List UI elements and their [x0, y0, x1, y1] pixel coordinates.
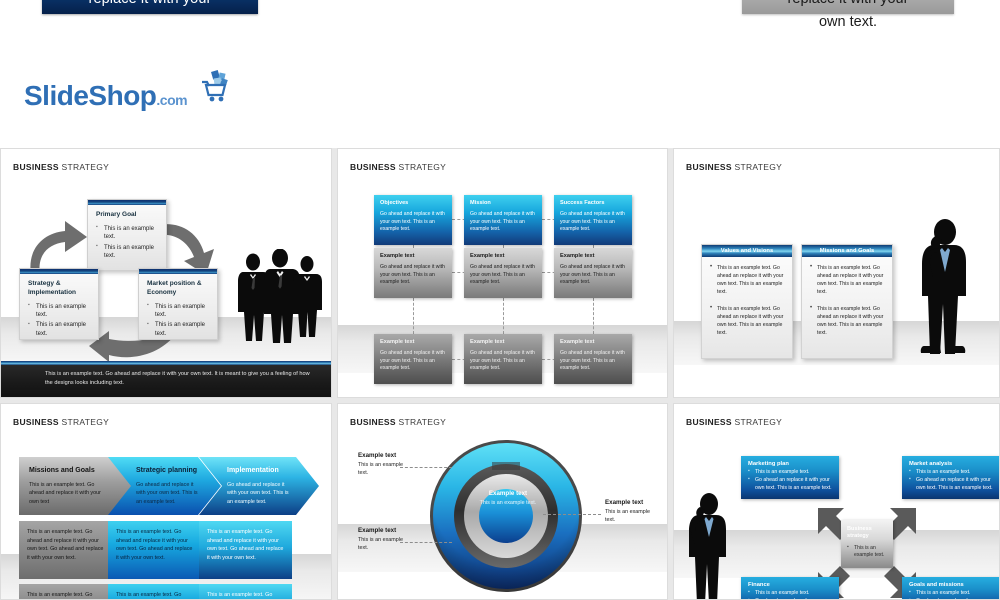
matrix-box-body: Go ahead and replace it with your own te…	[554, 345, 632, 373]
chevron-title: Missions and Goals	[29, 467, 95, 474]
matrix-box-body: Go ahead and replace it with your own te…	[374, 259, 452, 287]
content-box[interactable]: This is an example text. Go ahead and re…	[19, 584, 112, 600]
quadrant-box-title: Market analysis	[909, 461, 993, 467]
connector-line	[503, 298, 504, 334]
slide-thumbnail-4[interactable]: BUSINESS STRATEGY Missions and Goals Thi…	[0, 403, 332, 600]
title-light: STRATEGY	[396, 162, 446, 172]
page-title: BUSINESS STRATEGY	[350, 162, 446, 172]
list-item: This is an example text.	[847, 545, 887, 559]
content-box[interactable]: This is an example text. Go ahead and re…	[199, 521, 292, 579]
card-title: Primary Goal	[88, 205, 166, 222]
card-strategy-implementation[interactable]: Strategy & Implementation This is an exa…	[19, 268, 99, 340]
callout-body: This is an example text.	[358, 536, 410, 553]
list-item: This is an example text.	[147, 303, 209, 320]
content-box[interactable]: This is an example text. Go ahead and re…	[108, 521, 201, 579]
list-item: This is an example text.	[96, 244, 158, 261]
chevron-body: This is an example text. Go ahead and re…	[29, 481, 109, 506]
callout-header: Example text	[605, 499, 661, 506]
slide-thumbnail-2[interactable]: BUSINESS STRATEGY Objectives Go ahead an…	[337, 148, 668, 398]
shopping-cart-icon	[200, 70, 232, 104]
quadrant-box-title: Goals and missions	[909, 582, 993, 588]
chevron-implementation[interactable]: Implementation Go ahead and replace it w…	[199, 457, 319, 515]
concentric-target-diagram[interactable]	[428, 438, 584, 594]
center-node-bullets: This is an example text.	[841, 540, 893, 559]
card-title: Strategy & Implementation	[20, 274, 98, 300]
callout-top-left[interactable]: Example text This is an example text.	[358, 452, 410, 478]
list-item: Go ahead an replace it with your own tex…	[909, 477, 993, 493]
list-item: Go ahead an replace it with your own tex…	[748, 477, 832, 493]
logo-wordmark: SlideShop.com	[24, 78, 224, 118]
list-item: This is an example text.	[28, 321, 90, 338]
logo-dotcom-text: .com	[156, 92, 187, 108]
matrix-box[interactable]: Example text Go ahead and replace it wit…	[374, 334, 452, 384]
matrix-box-title: Success Factors	[554, 195, 632, 206]
chevron-body: Go ahead and replace it with your own te…	[136, 481, 204, 506]
matrix-box[interactable]: Example text Go ahead and replace it wit…	[554, 334, 632, 384]
center-callout-header: Example text	[478, 490, 538, 497]
chevron-title: Implementation	[227, 467, 279, 474]
quadrant-box-goals-and-missions[interactable]: Goals and missions This is an example te…	[902, 577, 1000, 600]
list-item: This is an example text. Go ahead an rep…	[709, 305, 785, 337]
chevron-title: Strategic planning	[136, 467, 197, 474]
title-bold: BUSINESS	[686, 417, 732, 427]
list-item: This is an example text.	[147, 321, 209, 338]
matrix-box-body: Go ahead and replace it with your own te…	[374, 206, 452, 234]
matrix-box-body: Go ahead and replace it with your own te…	[464, 259, 542, 287]
quadrant-box-title: Finance	[748, 582, 832, 588]
quadrant-box-bullets: This is an example text. Go ahead an rep…	[909, 590, 993, 600]
center-node-title: Business strategy	[841, 520, 893, 540]
connector-line	[413, 298, 414, 334]
callout-header: Example text	[358, 452, 410, 459]
quadrant-box-market-analysis[interactable]: Market analysis This is an example text.…	[902, 456, 1000, 499]
top-banner-area: replace it with your replace it with you…	[0, 0, 1000, 148]
list-item: This is an example text.	[748, 469, 832, 477]
logo-shop-text: Shop	[88, 80, 156, 111]
title-bold: BUSINESS	[350, 417, 396, 427]
card-market-position-economy[interactable]: Market position & Economy This is an exa…	[138, 268, 218, 340]
matrix-box[interactable]: Mission Go ahead and replace it with you…	[464, 195, 542, 245]
connector-line	[593, 298, 594, 334]
matrix-box[interactable]: Example text Go ahead and replace it wit…	[374, 248, 452, 298]
matrix-box-title: Example text	[554, 248, 632, 259]
callout-header: Example text	[358, 527, 410, 534]
logo-slide-text: Slide	[24, 80, 88, 111]
quadrant-box-bullets: This is an example text. Go ahead an rep…	[909, 469, 993, 492]
list-item: This is an example text.	[909, 590, 993, 598]
page-title: BUSINESS STRATEGY	[686, 417, 782, 427]
callout-right[interactable]: Example text This is an example text.	[605, 499, 661, 525]
matrix-box[interactable]: Objectives Go ahead and replace it with …	[374, 195, 452, 245]
content-box[interactable]: This is an example text. Go ahead and re…	[108, 584, 201, 600]
title-light: STRATEGY	[732, 417, 782, 427]
quadrant-box-finance[interactable]: Finance This is an example text. Go ahea…	[741, 577, 839, 600]
quadrant-box-title: Marketing plan	[748, 461, 832, 467]
list-item: This is an example text. Go ahead an rep…	[809, 305, 885, 337]
title-bold: BUSINESS	[686, 162, 732, 172]
panel-bullet-list: This is an example text. Go ahead an rep…	[802, 257, 892, 338]
businessman-on-phone-silhouette	[682, 492, 732, 600]
matrix-box-title: Mission	[464, 195, 542, 206]
page-title: BUSINESS STRATEGY	[350, 417, 446, 427]
page-title: BUSINESS STRATEGY	[13, 162, 109, 172]
card-primary-goal[interactable]: Primary Goal This is an example text. Th…	[87, 199, 167, 271]
quadrant-box-marketing-plan[interactable]: Marketing plan This is an example text. …	[741, 456, 839, 499]
list-item: This is an example text.	[28, 303, 90, 320]
matrix-box-body: Go ahead and replace it with your own te…	[464, 345, 542, 373]
list-item: This is an example text. Go ahead an rep…	[809, 264, 885, 296]
matrix-box-title: Example text	[464, 248, 542, 259]
slide-thumbnail-5[interactable]: BUSINESS STRATEGY	[337, 403, 668, 600]
matrix-box-body: Go ahead and replace it with your own te…	[554, 206, 632, 234]
title-light: STRATEGY	[59, 417, 109, 427]
title-light: STRATEGY	[59, 162, 109, 172]
slide-footer-bar: This is an example text. Go ahead and re…	[1, 361, 331, 397]
card-bullet-list: This is an example text. This is an exam…	[20, 300, 98, 347]
slide-thumbnail-grid: BUSINESS STRATEGY Primary Goal This is a…	[0, 148, 1000, 600]
matrix-box[interactable]: Success Factors Go ahead and replace it …	[554, 195, 632, 245]
matrix-box-body: Go ahead and replace it with your own te…	[374, 345, 452, 373]
businessman-on-phone-silhouette	[912, 218, 972, 360]
card-title: Market position & Economy	[139, 274, 217, 300]
center-node-business-strategy[interactable]: Business strategy This is an example tex…	[841, 520, 893, 568]
panel-header: Missions and Goals	[802, 245, 892, 257]
slide-thumbnail-1[interactable]: BUSINESS STRATEGY Primary Goal This is a…	[0, 148, 332, 398]
card-bullet-list: This is an example text. This is an exam…	[88, 222, 166, 269]
page-title: BUSINESS STRATEGY	[686, 162, 782, 172]
list-item: This is an example text.	[96, 225, 158, 242]
quadrant-box-bullets: This is an example text. Go ahead an rep…	[748, 590, 832, 600]
footer-accent-strip	[1, 361, 331, 365]
slide-thumbnail-6[interactable]: BUSINESS STRATEGY Business strategy	[673, 403, 1000, 600]
matrix-box-body: Go ahead and replace it with your own te…	[554, 259, 632, 287]
center-callout: Example text This is an example text.	[478, 490, 538, 507]
leader-line	[543, 514, 601, 515]
matrix-box[interactable]: Example text Go ahead and replace it wit…	[554, 248, 632, 298]
matrix-box[interactable]: Example text Go ahead and replace it wit…	[464, 334, 542, 384]
panel-missions-and-goals[interactable]: Missions and Goals This is an example te…	[801, 244, 893, 359]
matrix-box-title: Example text	[554, 334, 632, 345]
panel-bullet-list: This is an example text. Go ahead an rep…	[702, 257, 792, 338]
title-light: STRATEGY	[732, 162, 782, 172]
list-item: This is an example text.	[909, 469, 993, 477]
matrix-box-title: Example text	[374, 334, 452, 345]
title-light: STRATEGY	[396, 417, 446, 427]
card-bullet-list: This is an example text. This is an exam…	[139, 300, 217, 347]
title-bold: BUSINESS	[13, 417, 59, 427]
matrix-box-title: Example text	[374, 248, 452, 259]
callout-bottom-left[interactable]: Example text This is an example text.	[358, 527, 410, 553]
slide-thumbnail-3[interactable]: BUSINESS STRATEGY Values and Visions Thi…	[673, 148, 1000, 398]
business-people-silhouette	[237, 249, 325, 343]
list-item: This is an example text. Go ahead an rep…	[709, 264, 785, 296]
callout-body: This is an example text.	[605, 508, 661, 525]
center-callout-body: This is an example text.	[478, 499, 538, 507]
footer-text: This is an example text. Go ahead and re…	[45, 370, 311, 388]
matrix-box-title: Example text	[464, 334, 542, 345]
matrix-box[interactable]: Example text Go ahead and replace it wit…	[464, 248, 542, 298]
slideshop-logo[interactable]: SlideShop.com	[24, 78, 224, 122]
gray-ribbon-subtext: own text.	[742, 14, 954, 30]
gray-ribbon-banner: replace it with your	[742, 0, 954, 14]
quadrant-box-bullets: This is an example text. Go ahead an rep…	[748, 469, 832, 492]
blue-ribbon-banner: replace it with your	[42, 0, 258, 14]
title-bold: BUSINESS	[350, 162, 396, 172]
matrix-box-body: Go ahead and replace it with your own te…	[464, 206, 542, 234]
title-bold: BUSINESS	[13, 162, 59, 172]
matrix-box-title: Objectives	[374, 195, 452, 206]
panel-values-and-visions[interactable]: Values and Visions This is an example te…	[701, 244, 793, 359]
content-box[interactable]: This is an example text. Go ahead and re…	[199, 584, 292, 600]
callout-body: This is an example text.	[358, 461, 410, 478]
page-title: BUSINESS STRATEGY	[13, 417, 109, 427]
panel-header: Values and Visions	[702, 245, 792, 257]
content-box[interactable]: This is an example text. Go ahead and re…	[19, 521, 112, 579]
list-item: This is an example text.	[748, 590, 832, 598]
chevron-body: Go ahead and replace it with your own te…	[227, 481, 295, 506]
